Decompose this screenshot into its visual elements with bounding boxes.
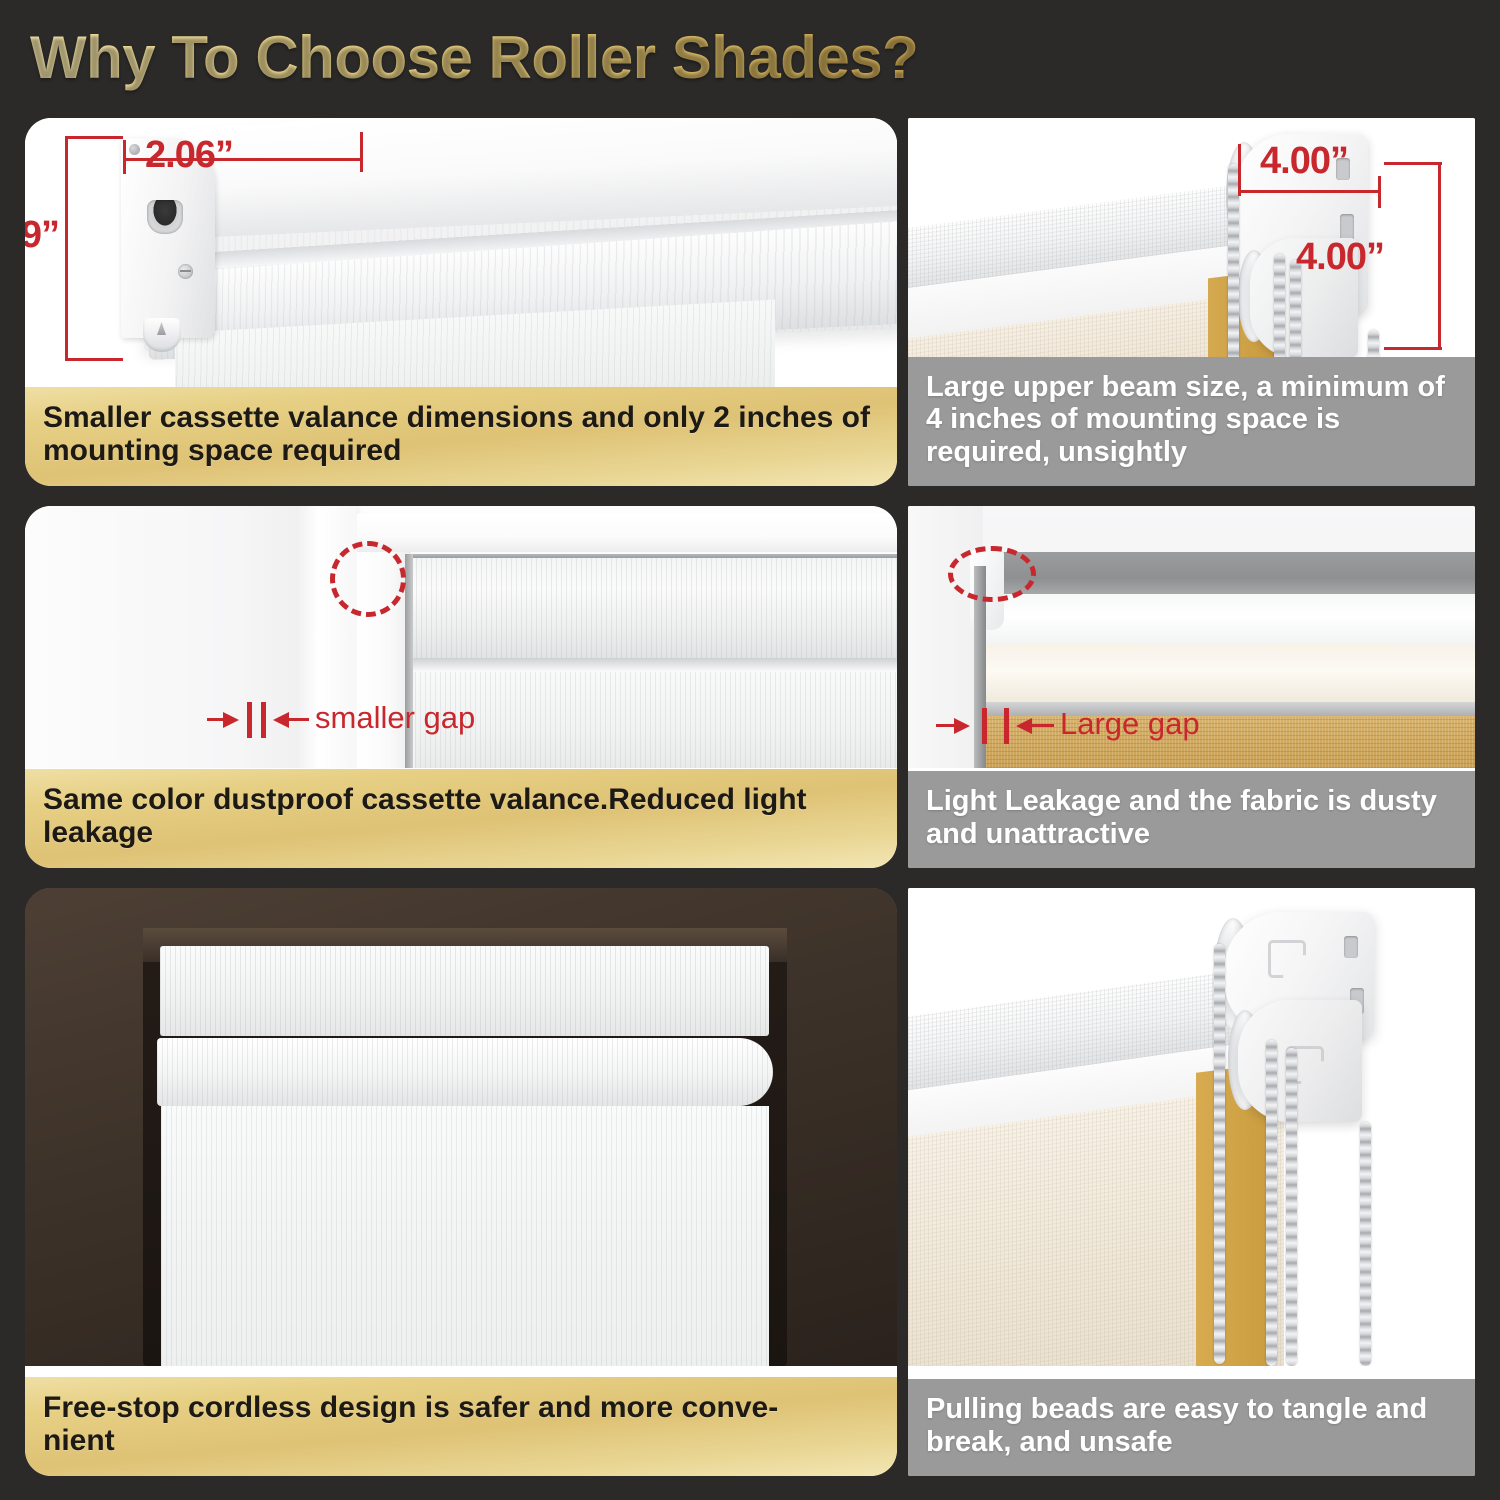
width-dimension-label: 2.06” [145, 134, 233, 177]
beam-height-dimension-label: 4.00” [1296, 236, 1384, 279]
top-screw-icon [129, 144, 140, 155]
large-beam-photo: 4.00” 4.00” [908, 118, 1475, 388]
panel-dustproof-cassette-valance: smaller gap Same color dustproof cassett… [25, 506, 897, 868]
bead-chain-2 [1266, 1040, 1277, 1366]
panel-caption-con-2: Light Leakage and the fabric is dusty an… [908, 771, 1475, 868]
lowered-shade-fabric [161, 1106, 769, 1366]
highlight-circle-icon [330, 541, 406, 617]
beam-height-tick-top [1384, 162, 1442, 165]
smaller-gap-label: smaller gap [315, 700, 475, 736]
large-gap-arrow-right-stem [1032, 724, 1054, 727]
dark-upper-beam [983, 552, 1475, 596]
shade-fabric [415, 672, 897, 768]
beam-width-dimension-label: 4.00” [1260, 140, 1348, 183]
beam-height-tick-bottom [1384, 347, 1442, 350]
panel-caption-pro-3: Free-stop cordless design is safer and m… [25, 1377, 897, 1476]
panel-caption-con-1: Large upper beam size, a minimum of 4 in… [908, 357, 1475, 486]
cream-valance-band [983, 644, 1475, 704]
large-gap-arrow-left-stem [936, 724, 960, 727]
width-dimension-tick-right [360, 132, 363, 172]
gap-arrow-left-stem [207, 718, 229, 721]
beam-width-tick-left [1238, 144, 1241, 196]
gap-marker-1 [247, 702, 252, 738]
valance-mid-rail [411, 658, 897, 672]
large-gap-label: Large gap [1060, 706, 1200, 742]
window-frame-head [357, 514, 897, 552]
cassette-head-rail [160, 946, 769, 1036]
room-window-photo [25, 888, 897, 1366]
cassette-valance-photo: 2.06” 5.49” [25, 118, 897, 388]
height-dimension-tick-bottom [65, 358, 123, 361]
page-title: Why To Choose Roller Shades? [30, 22, 1130, 94]
gap-marker-2 [261, 702, 266, 738]
bead-chain-1 [1228, 164, 1239, 388]
interior-wall [25, 506, 325, 768]
beam-height-dimension-line [1438, 162, 1441, 350]
panel-caption-pro-1: Smaller cassette valance dimensions and … [25, 387, 897, 486]
height-dimension-tick-top [65, 136, 123, 139]
large-gap-marker-2 [1004, 708, 1009, 744]
panel-caption-pro-2: Same color dustproof cassette valance.Re… [25, 769, 897, 868]
bead-chain-1 [1214, 944, 1225, 1364]
white-valance-band [983, 594, 1475, 650]
bead-chain-4 [1360, 1122, 1371, 1366]
panel-large-upper-beam: 4.00” 4.00” Large upper beam size, a min… [908, 118, 1475, 486]
valance-knob [143, 318, 181, 352]
beam-width-dimension-line [1238, 190, 1380, 193]
screw-icon [178, 264, 193, 279]
large-gap-arrow-right [1016, 718, 1032, 734]
panel-cassette-valance-dimensions: 2.06” 5.49” Smaller cassette valance dim… [25, 118, 897, 486]
panel-free-stop-cordless-design: Free-stop cordless design is safer and m… [25, 888, 897, 1476]
height-dimension-label: 5.49” [25, 214, 59, 257]
panel-light-leakage-dusty-fabric: Large gap Light Leakage and the fabric i… [908, 506, 1475, 868]
panel-caption-con-3: Pulling beads are easy to tangle and bre… [908, 1379, 1475, 1476]
panel-pulling-beads-tangle: Pulling beads are easy to tangle and bre… [908, 888, 1475, 1476]
gap-arrow-right-stem [287, 718, 309, 721]
bracket-notch-top [1344, 936, 1358, 958]
highlight-ellipse-icon [948, 546, 1036, 602]
height-dimension-line [65, 136, 68, 361]
beam-width-tick-right [1378, 176, 1381, 208]
pulling-beads-photo [908, 888, 1475, 1366]
light-leakage-photo: Large gap [908, 506, 1475, 768]
bead-chain-3 [1286, 1048, 1297, 1366]
cassette-valance [411, 558, 897, 658]
fabric-roll [157, 1038, 773, 1106]
valance-slot [147, 200, 183, 234]
wall-area [908, 506, 983, 768]
dustproof-valance-photo: smaller gap [25, 506, 897, 768]
large-gap-marker-1 [982, 708, 987, 744]
width-dimension-tick-left [123, 140, 126, 174]
